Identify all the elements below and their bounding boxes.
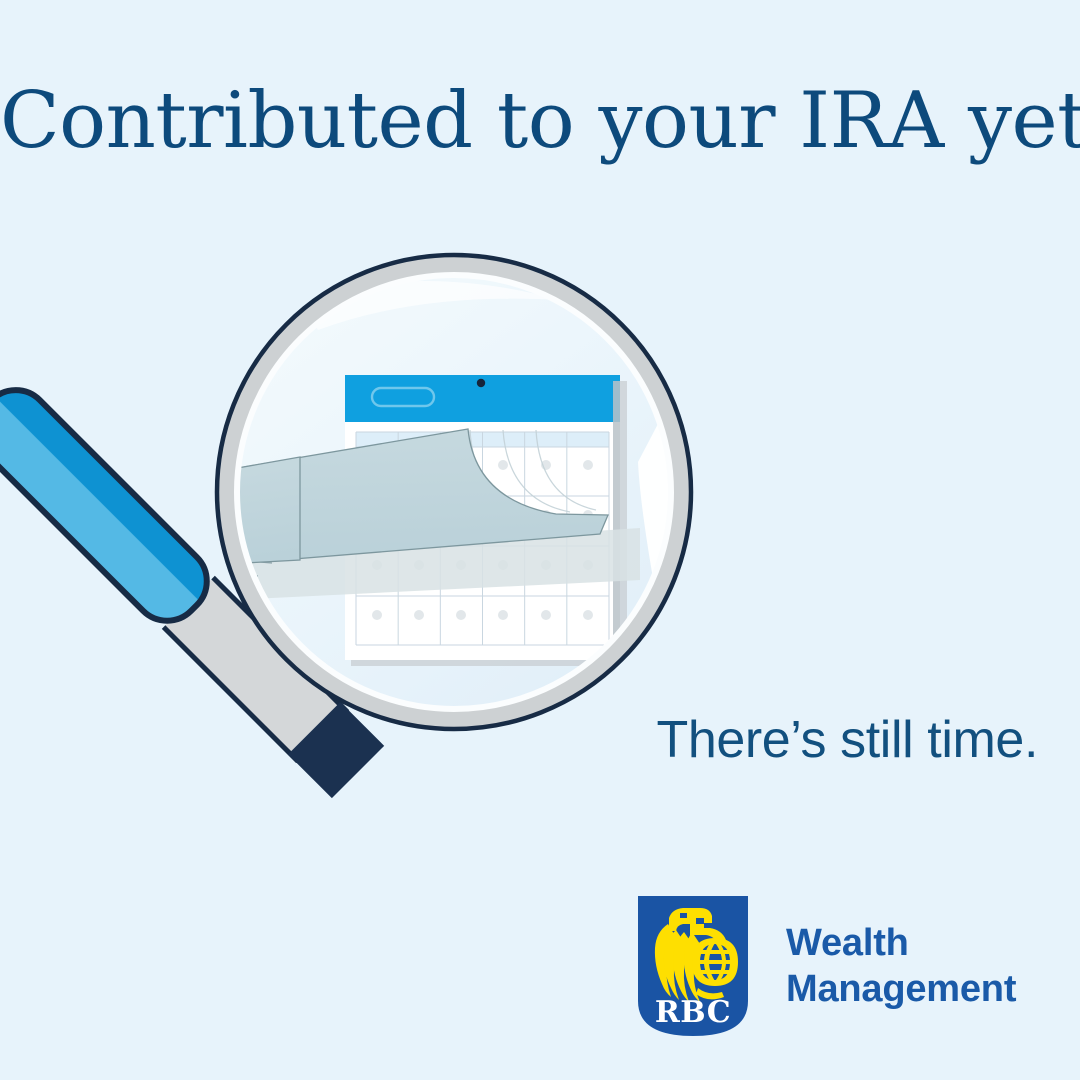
- peeled-calendar-page: [229, 429, 608, 563]
- calendar-header-tab: [372, 388, 434, 406]
- calendar-header-band: [345, 375, 620, 422]
- page-curl-guides: [470, 430, 596, 515]
- calendar-punch-hole: [477, 379, 485, 387]
- wordmark-line-2: Management: [786, 966, 1016, 1012]
- shield-rbc-text: RBC: [655, 995, 731, 1030]
- calendar-weekday-row: [356, 432, 609, 447]
- page-title: Contributed to your IRA yet?: [0, 82, 1080, 160]
- calendar-grid: [356, 432, 609, 645]
- handle-collar: [288, 702, 384, 798]
- lens-rim-fill: [227, 265, 681, 719]
- calendar-shadow: [351, 381, 627, 666]
- peel-underside-lines: [212, 540, 272, 576]
- rbc-shield-logo-icon: RBC: [638, 896, 748, 1036]
- rbc-wealth-management-logo: RBC Wealth Management: [638, 892, 1038, 1040]
- calendar-spine-shade: [613, 381, 620, 660]
- lens-highlight: [300, 281, 674, 590]
- wordmark-line-1: Wealth: [786, 920, 1016, 966]
- calendar-body: [345, 375, 620, 660]
- magnifier-handle: [0, 376, 384, 798]
- handle-neck: [164, 578, 348, 762]
- subheadline: There’s still time.: [656, 714, 1038, 766]
- peel-overhang: [229, 457, 300, 563]
- wordmark: Wealth Management: [786, 920, 1016, 1013]
- lens-contents: [212, 375, 640, 666]
- peeled-page-shadow: [230, 528, 640, 600]
- handle-grip: [0, 376, 221, 635]
- ad-canvas: Contributed to your IRA yet? There’s sti…: [0, 0, 1080, 1080]
- lens-glass: [236, 274, 672, 710]
- lens-rim-inner-edge: [237, 275, 671, 709]
- calendar-date-dots: [372, 460, 593, 620]
- lens-rim-outline: [217, 255, 691, 729]
